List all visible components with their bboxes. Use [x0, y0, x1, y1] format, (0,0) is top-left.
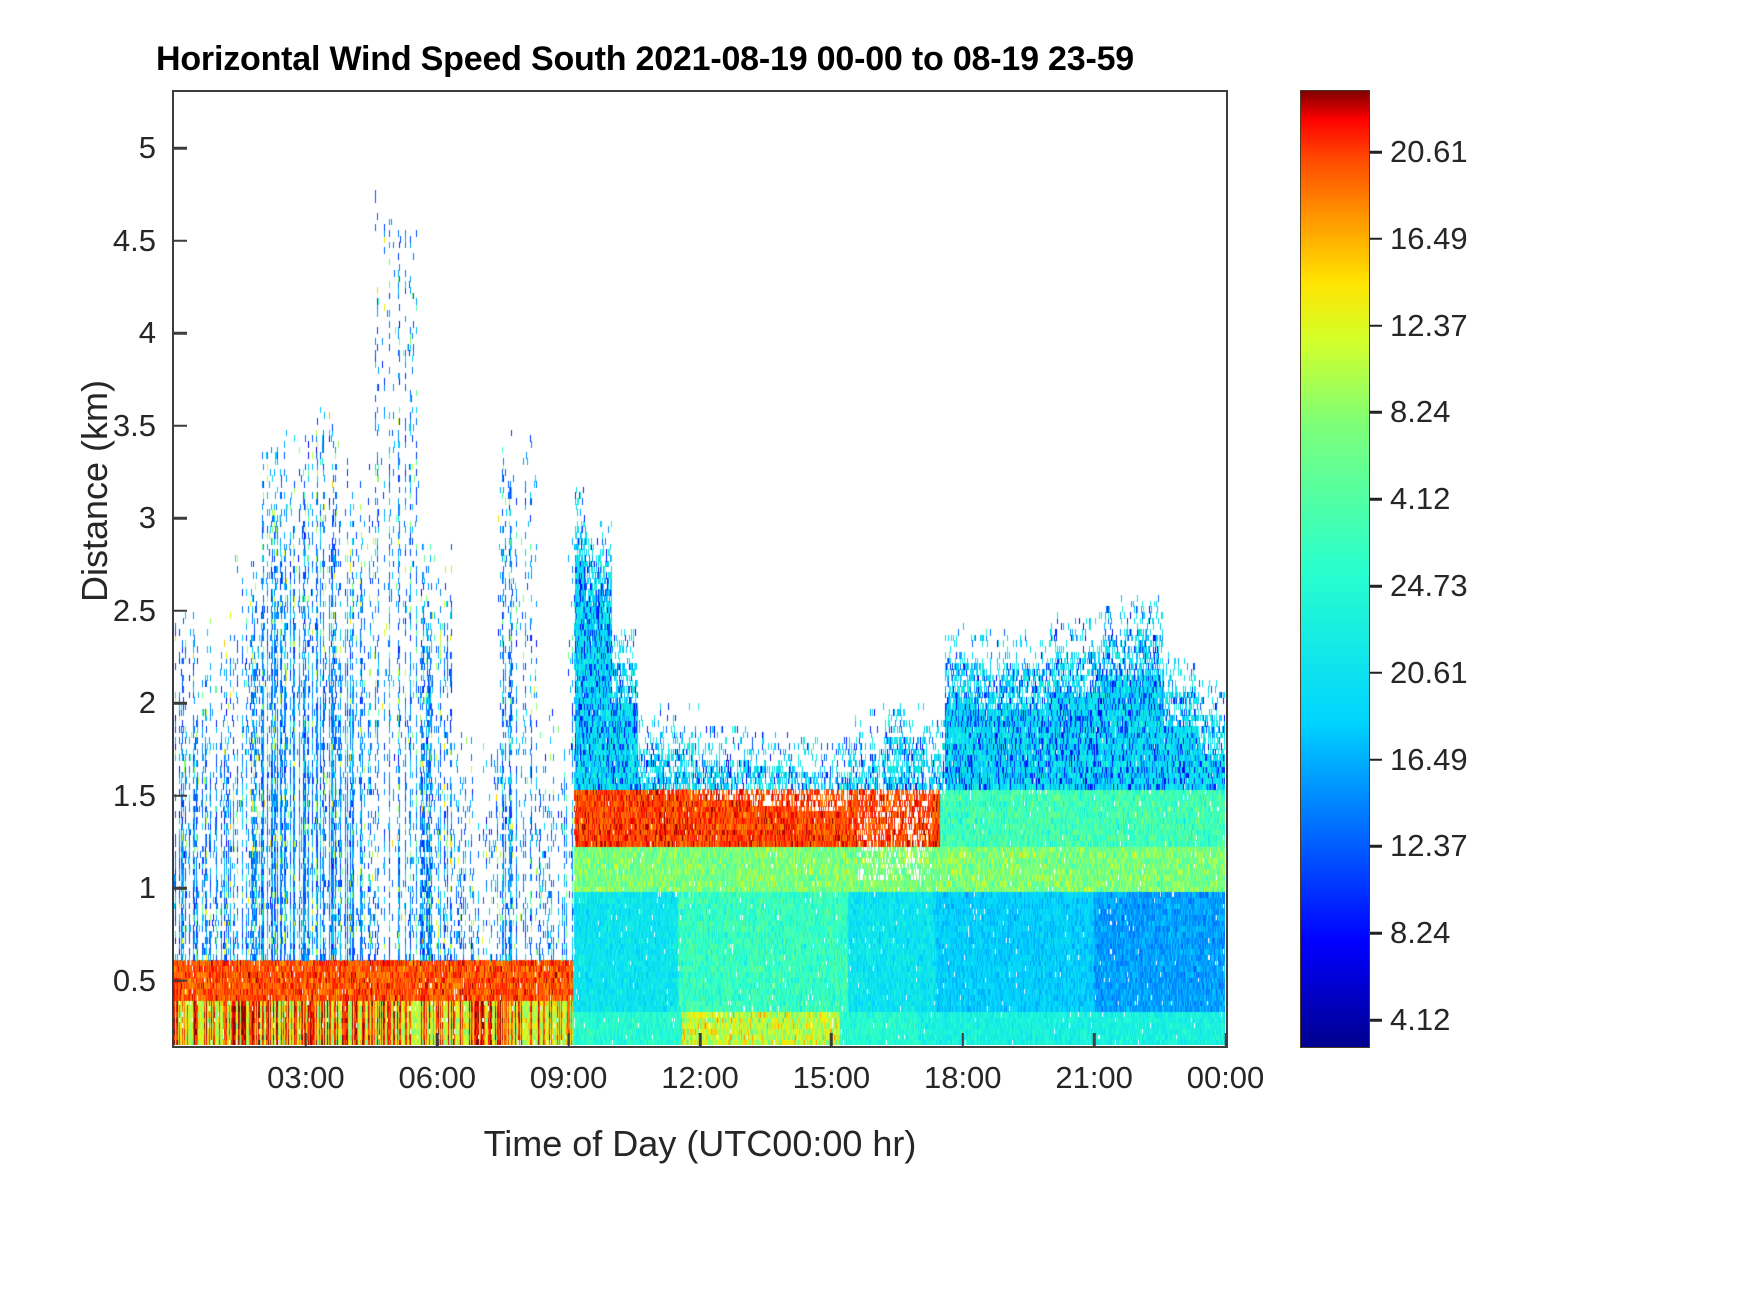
y-tick-label: 4: [139, 315, 156, 351]
y-tick-label: 0.5: [113, 963, 156, 999]
y-tick-mark: [174, 424, 187, 427]
x-tick-label: 09:00: [530, 1060, 608, 1096]
colorbar-tick-label: 8.24: [1390, 915, 1450, 951]
y-tick-mark: [174, 887, 187, 890]
x-tick-mark: [567, 1033, 570, 1046]
plot-area[interactable]: [172, 90, 1228, 1048]
colorbar-tick-label: 20.61: [1390, 134, 1468, 170]
colorbar-group[interactable]: 20.6116.4912.378.244.1224.7320.6116.4912…: [1300, 90, 1730, 1048]
colorbar-tick-mark: [1370, 238, 1382, 241]
colorbar-tick-mark: [1370, 585, 1382, 588]
colorbar-tick-mark: [1370, 411, 1382, 414]
colorbar-gradient[interactable]: [1300, 90, 1370, 1048]
colorbar-tick-label: 20.61: [1390, 655, 1468, 691]
colorbar-tick-label: 4.12: [1390, 1002, 1450, 1038]
x-tick-mark: [962, 1033, 965, 1046]
colorbar-tick-mark: [1370, 1019, 1382, 1022]
y-tick-label: 4.5: [113, 223, 156, 259]
y-tick-mark: [174, 239, 187, 242]
y-tick-label: 2.5: [113, 593, 156, 629]
colorbar-tick-mark: [1370, 932, 1382, 935]
colorbar-tick-label: 12.37: [1390, 308, 1468, 344]
x-tick-mark: [830, 1033, 833, 1046]
x-tick-label: 03:00: [267, 1060, 345, 1096]
colorbar-tick-mark: [1370, 672, 1382, 675]
colorbar-tick-mark: [1370, 324, 1382, 327]
y-tick-label: 3.5: [113, 408, 156, 444]
x-tick-label: 18:00: [924, 1060, 1002, 1096]
y-tick-label: 1: [139, 870, 156, 906]
colorbar-tick-label: 16.49: [1390, 742, 1468, 778]
y-tick-mark: [174, 702, 187, 705]
colorbar-tick-label: 12.37: [1390, 828, 1468, 864]
figure-root: Horizontal Wind Speed South 2021-08-19 0…: [0, 0, 1750, 1313]
y-axis-label: Distance (km): [74, 276, 116, 706]
x-tick-label: 15:00: [793, 1060, 871, 1096]
y-tick-label: 1.5: [113, 778, 156, 814]
x-tick-mark: [1093, 1033, 1096, 1046]
x-tick-label: 06:00: [398, 1060, 476, 1096]
page-title: Horizontal Wind Speed South 2021-08-19 0…: [0, 40, 1290, 79]
colorbar-tick-mark: [1370, 498, 1382, 501]
x-tick-mark: [305, 1033, 308, 1046]
colorbar-tick-mark: [1370, 845, 1382, 848]
y-tick-label: 2: [139, 685, 156, 721]
y-tick-label: 3: [139, 500, 156, 536]
x-tick-label: 00:00: [1187, 1060, 1265, 1096]
colorbar-tick-label: 4.12: [1390, 481, 1450, 517]
x-tick-label: 21:00: [1055, 1060, 1133, 1096]
colorbar-tick-label: 24.73: [1390, 568, 1468, 604]
y-tick-mark: [174, 609, 187, 612]
x-tick-mark: [436, 1033, 439, 1046]
colorbar-tick-mark: [1370, 151, 1382, 154]
colorbar-tick-mark: [1370, 758, 1382, 761]
colorbar-tick-label: 16.49: [1390, 221, 1468, 257]
colorbar-tick-label: 8.24: [1390, 394, 1450, 430]
heatmap-canvas: [174, 92, 1225, 1045]
y-tick-mark: [174, 147, 187, 150]
x-tick-mark: [1224, 1033, 1227, 1046]
x-tick-label: 12:00: [661, 1060, 739, 1096]
x-axis-label: Time of Day (UTC00:00 hr): [172, 1123, 1228, 1165]
y-tick-mark: [174, 794, 187, 797]
x-tick-mark: [699, 1033, 702, 1046]
y-tick-mark: [174, 979, 187, 982]
y-tick-label: 5: [139, 130, 156, 166]
y-tick-mark: [174, 517, 187, 520]
y-tick-mark: [174, 332, 187, 335]
